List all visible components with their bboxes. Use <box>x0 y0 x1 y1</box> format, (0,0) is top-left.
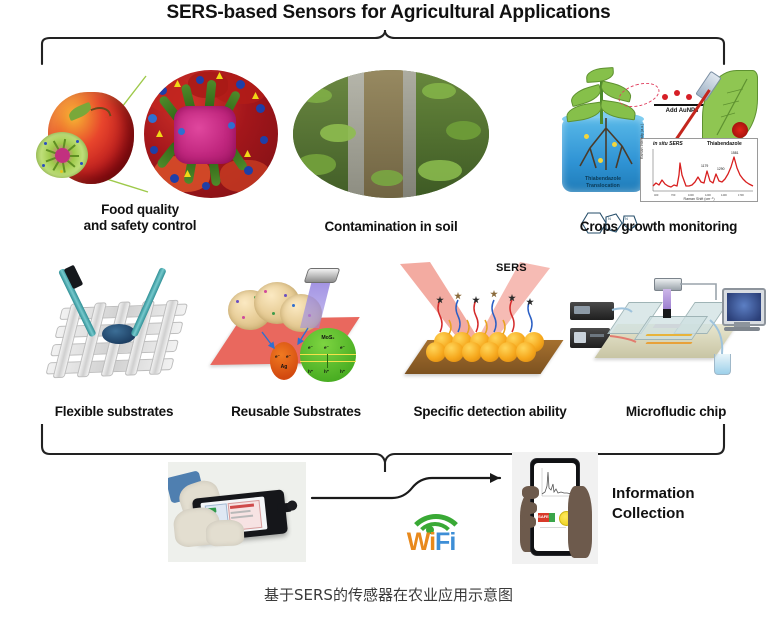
label-text: Flexible substrates <box>14 404 214 420</box>
bottom-brace <box>0 424 777 472</box>
apple-illustration <box>38 70 278 198</box>
panel-label-food-quality: Food quality and safety control <box>20 202 260 235</box>
specific-detection-illustration: SERS <box>400 262 580 388</box>
inset-xlabel: Raman Shift (cm⁻¹) <box>641 197 757 201</box>
label-text: Reusable Substrates <box>196 404 396 420</box>
panel-label-microfluidic: Microfludic chip <box>586 404 766 420</box>
peak-label-1179: 1179 <box>701 164 708 168</box>
panel-label-reusable: Reusable Substrates <box>196 404 396 420</box>
peak-label-1290: 1290 <box>717 167 725 171</box>
electron-transfer-arrows <box>222 266 382 388</box>
figure-title: SERS-based Sensors for Agricultural Appl… <box>0 2 777 24</box>
hydroponic-beaker: N N N S Thiabendazole Translocation <box>562 118 644 192</box>
safe-badge: SAFE <box>538 513 555 522</box>
panel-label-specific: Specific detection ability <box>378 404 602 420</box>
panel-label-soil: Contamination in soil <box>293 219 489 235</box>
apple-core <box>55 148 70 163</box>
root-system <box>562 118 644 178</box>
figure-caption: 基于SERS的传感器在农业应用示意图 <box>0 584 777 605</box>
handheld-analyzer-photo <box>168 462 306 562</box>
label-line-1: Food quality <box>20 202 260 218</box>
wifi-logo: WiFi <box>385 500 477 558</box>
aptamer-strands <box>400 262 580 388</box>
crops-growth-illustration: N N N S Thiabendazole Translocation <box>556 62 764 202</box>
apple-leaf-icon <box>67 102 93 121</box>
smartphone-photo: SAFE <box>512 452 598 564</box>
gloved-fingers <box>206 519 245 546</box>
beaker-caption: Thiabendazole Translocation <box>562 176 644 189</box>
sers-hotspot <box>732 122 748 138</box>
apple-stem-icon <box>90 104 111 122</box>
beaker-caption-line-2: Translocation <box>562 183 644 190</box>
hand-fingers <box>568 486 592 558</box>
label-line-1: Contamination in soil <box>293 219 489 235</box>
panel-label-flexible: Flexible substrates <box>14 404 214 420</box>
finger <box>521 502 537 514</box>
spectrum-trace: 1179 1290 1581 4007001000 120014001700 <box>641 139 757 201</box>
label-text: Specific detection ability <box>378 404 602 420</box>
flexible-substrate-illustration <box>42 268 192 388</box>
reusable-substrate-illustration: e⁻ e⁻ Ag MoS₂ e⁻ e⁻ e⁻ h⁺ h⁺ h⁺ <box>222 266 382 388</box>
waste-vial <box>714 354 731 375</box>
information-collection-label: Information Collection <box>612 484 762 523</box>
plant-leaf-top <box>586 67 615 83</box>
sers-spectrum-inset: in situ SERS Thiabendazole Raman Intensi… <box>640 138 758 202</box>
top-brace <box>0 30 777 66</box>
graphical-abstract: SERS-based Sensors for Agricultural Appl… <box>0 0 777 619</box>
label-text: Microfludic chip <box>586 404 766 420</box>
peak-label-1581: 1581 <box>731 151 739 155</box>
crop-field-photo <box>293 70 489 198</box>
label-line-1: Crops growth monitoring <box>540 219 777 235</box>
info-label-line-1: Information <box>612 484 762 504</box>
microfluidic-illustration <box>588 272 768 390</box>
info-label-line-2: Collection <box>612 504 762 524</box>
apple-cut-surface <box>36 132 88 178</box>
wifi-fi-text: Fi <box>435 528 455 556</box>
nanoparticle-magnification <box>144 70 278 198</box>
safe-badge-text: SAFE <box>538 514 549 519</box>
panel-label-crops: Crops growth monitoring <box>540 219 777 235</box>
label-line-2: and safety control <box>20 218 260 234</box>
wifi-wordmark: WiFi <box>385 528 477 557</box>
tubing-and-wires <box>588 272 768 390</box>
finger <box>521 516 536 528</box>
pathogen-core <box>174 106 236 164</box>
wifi-wi-text: Wi <box>407 528 435 556</box>
thumb <box>522 486 539 499</box>
